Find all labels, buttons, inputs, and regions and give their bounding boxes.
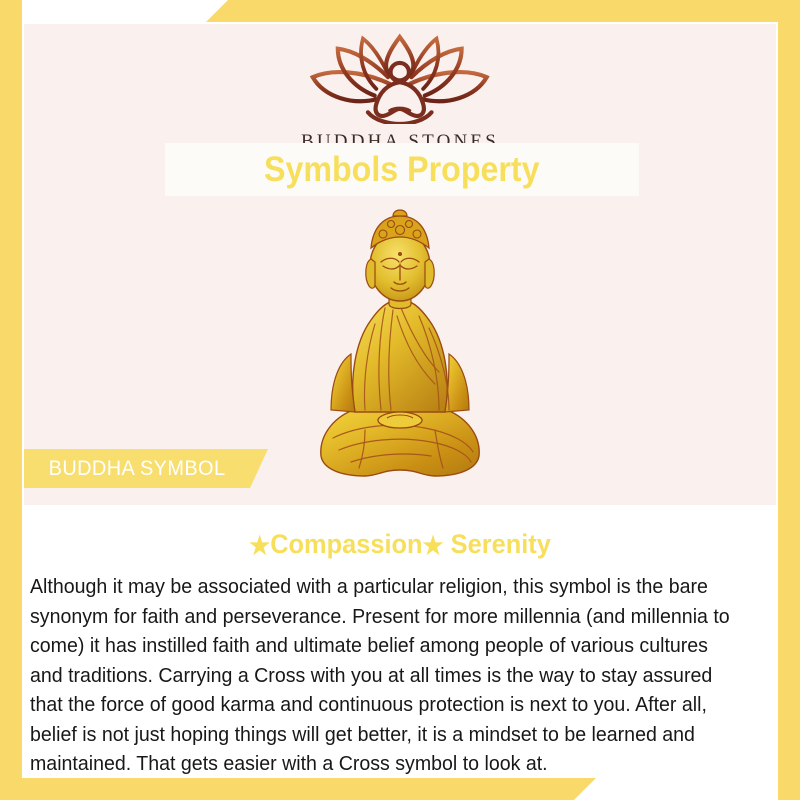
star-icon-right: ★ xyxy=(423,532,444,560)
seated-golden-buddha-statue-icon xyxy=(305,204,495,494)
attributes-headline: ★Compassion★ Serenity xyxy=(47,529,754,561)
frame-left-bar xyxy=(0,0,22,800)
page-title: Symbols Property xyxy=(264,150,540,190)
description-paragraph: Although it may be associated with a par… xyxy=(30,572,737,776)
category-tag-label: BUDDHA SYMBOL xyxy=(49,457,226,481)
star-icon-left: ★ xyxy=(249,532,270,560)
frame-bottom-bar xyxy=(0,778,800,800)
frame-top-bar xyxy=(0,0,800,22)
attribute-serenity: Serenity xyxy=(451,529,551,559)
title-band: Symbols Property xyxy=(165,143,639,196)
frame-right-bar xyxy=(778,0,800,800)
poster-root: BUDDHA STONES Symbols Property xyxy=(0,0,800,800)
brand-header: BUDDHA STONES xyxy=(24,24,776,153)
attribute-compassion: Compassion xyxy=(270,529,422,559)
lotus-meditation-figure-icon xyxy=(291,32,508,124)
content-panel: BUDDHA STONES Symbols Property xyxy=(24,24,776,776)
category-tag: BUDDHA SYMBOL xyxy=(24,449,268,488)
